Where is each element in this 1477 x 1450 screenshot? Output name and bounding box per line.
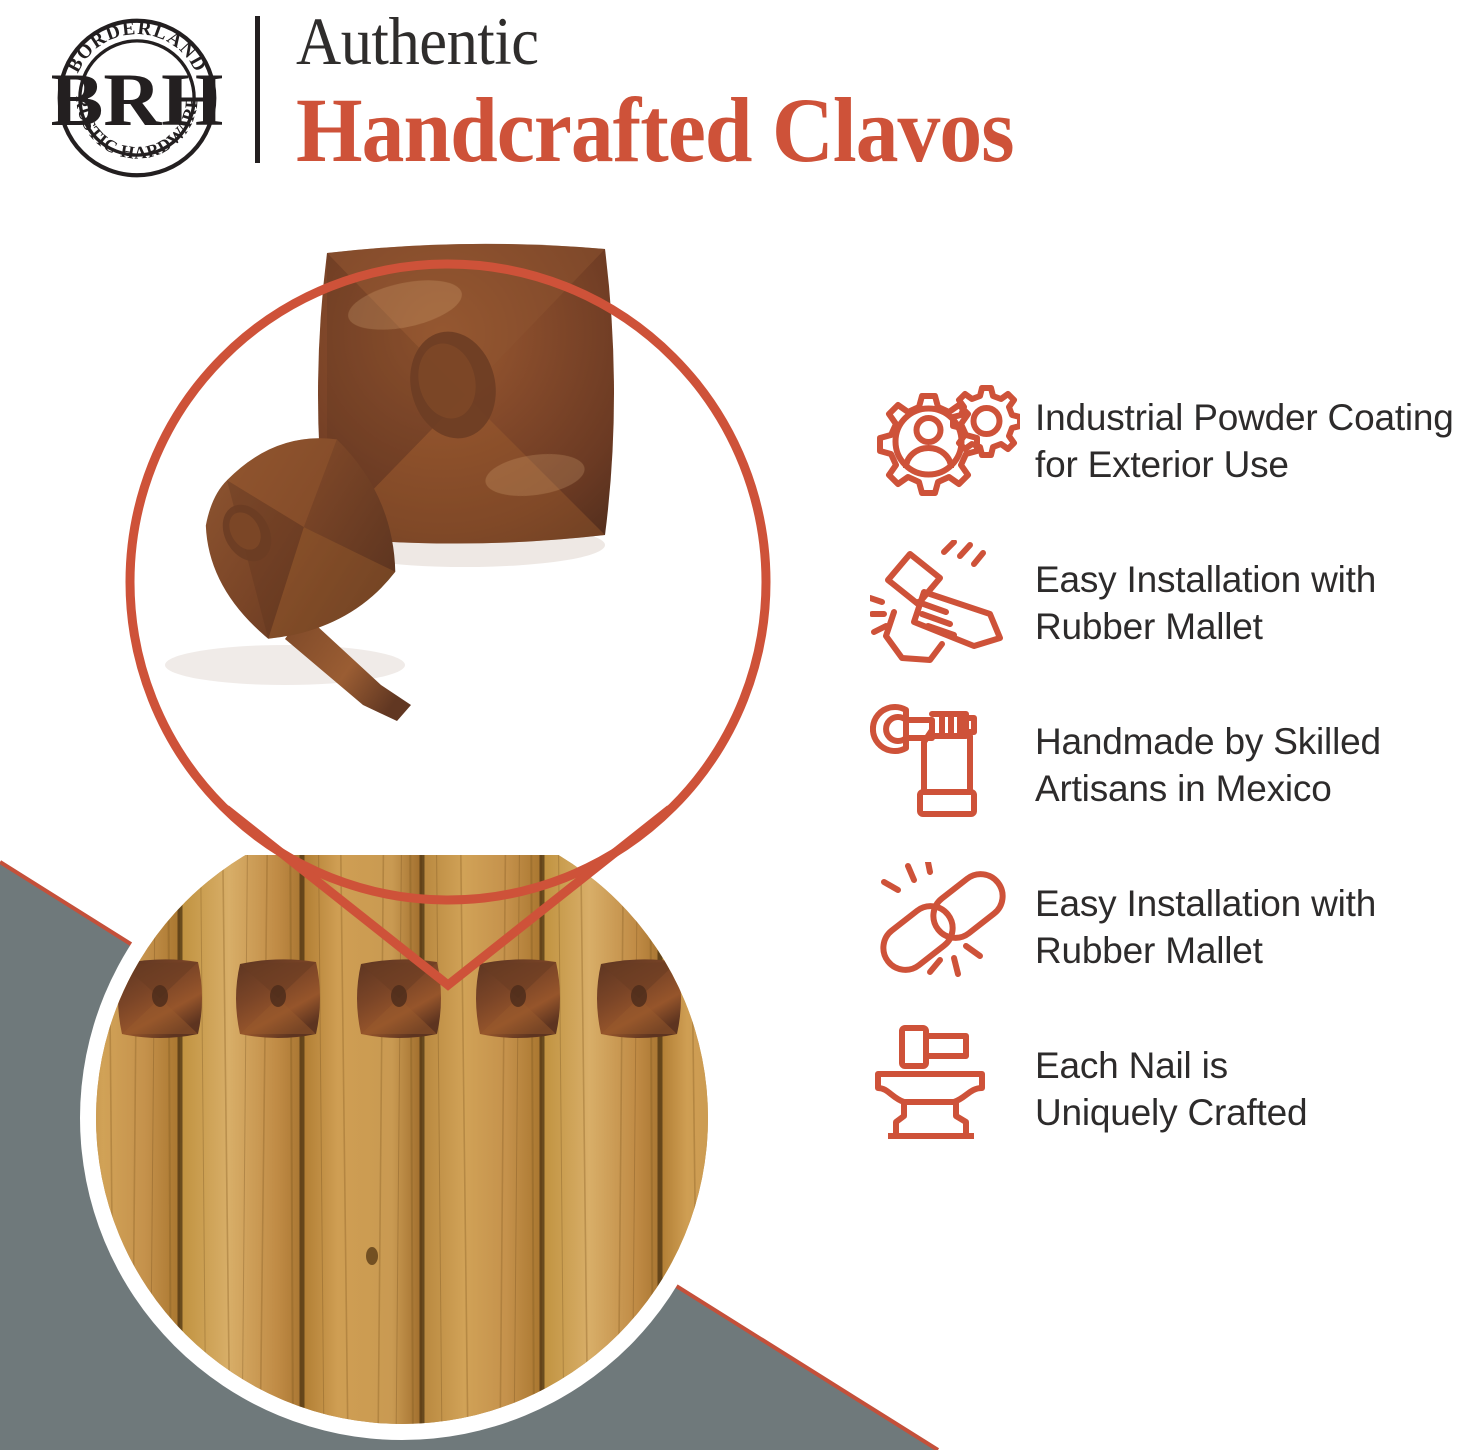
- visual-column: [0, 190, 850, 1450]
- feature-label: Industrial Powder Coating for Exterior U…: [1035, 394, 1454, 488]
- feature-label: Each Nail is Uniquely Crafted: [1035, 1042, 1307, 1136]
- feature-item: Industrial Powder Coating for Exterior U…: [855, 360, 1477, 522]
- title-block: Authentic Handcrafted Clavos: [296, 4, 1456, 178]
- feature-item: Each Nail is Uniquely Crafted: [855, 1008, 1477, 1170]
- infographic-page: BORDERLAND RUSTIC HARDWARE BRH Authentic…: [0, 0, 1477, 1450]
- page-subtitle: Authentic: [296, 4, 1363, 78]
- hand-mallet-icon: [855, 540, 1035, 666]
- logo-monogram: BRH: [52, 58, 222, 141]
- feature-label: Easy Installation with Rubber Mallet: [1035, 880, 1376, 974]
- anvil-hammer-icon: [855, 1024, 1035, 1154]
- page-title: Handcrafted Clavos: [296, 82, 1375, 178]
- feature-label: Easy Installation with Rubber Mallet: [1035, 556, 1376, 650]
- header-divider: [255, 16, 260, 163]
- feature-label: Handmade by Skilled Artisans in Mexico: [1035, 718, 1381, 812]
- product-photo: [135, 235, 755, 855]
- door-photo-circle: [72, 788, 732, 1448]
- feature-item: Handmade by Skilled Artisans in Mexico: [855, 684, 1477, 846]
- brand-logo-icon: BORDERLAND RUSTIC HARDWARE BRH: [52, 14, 222, 182]
- feature-list: Industrial Powder Coating for Exterior U…: [855, 360, 1477, 1170]
- feature-item: Easy Installation with Rubber Mallet: [855, 522, 1477, 684]
- fist-wrench-icon: [855, 700, 1035, 830]
- chain-links-icon: [855, 862, 1035, 992]
- feature-item: Easy Installation with Rubber Mallet: [855, 846, 1477, 1008]
- gears-person-icon: [855, 376, 1035, 506]
- header: BORDERLAND RUSTIC HARDWARE BRH Authentic…: [0, 0, 1477, 190]
